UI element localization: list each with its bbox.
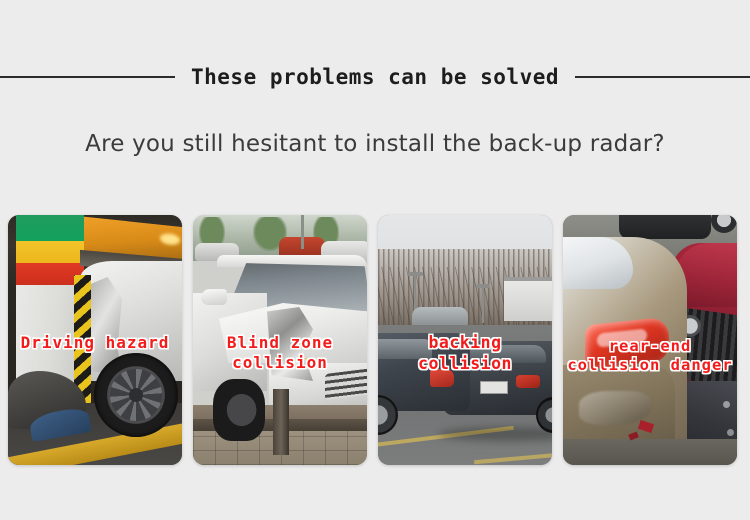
- page-subtitle: Are you still hesitant to install the ba…: [0, 131, 750, 157]
- page-header: These problems can be solved: [0, 60, 750, 94]
- header-rule-left: [0, 76, 175, 78]
- crash-photo-rear-end-collision: [563, 215, 737, 465]
- problem-card-row: Driving hazard Blind z: [8, 215, 742, 465]
- problem-card-driving-hazard[interactable]: Driving hazard: [8, 215, 182, 465]
- crash-photo-blind-zone-collision: [193, 215, 367, 465]
- page-title: These problems can be solved: [191, 67, 559, 88]
- problem-card-blind-zone-collision[interactable]: Blind zone collision: [193, 215, 367, 465]
- crash-photo-backing-collision: [378, 215, 552, 465]
- header-rule-right: [575, 76, 750, 78]
- problem-card-rear-end-collision-danger[interactable]: rear-end collision danger: [563, 215, 737, 465]
- problem-card-backing-collision[interactable]: backing collision: [378, 215, 552, 465]
- crash-photo-driving-hazard: [8, 215, 182, 465]
